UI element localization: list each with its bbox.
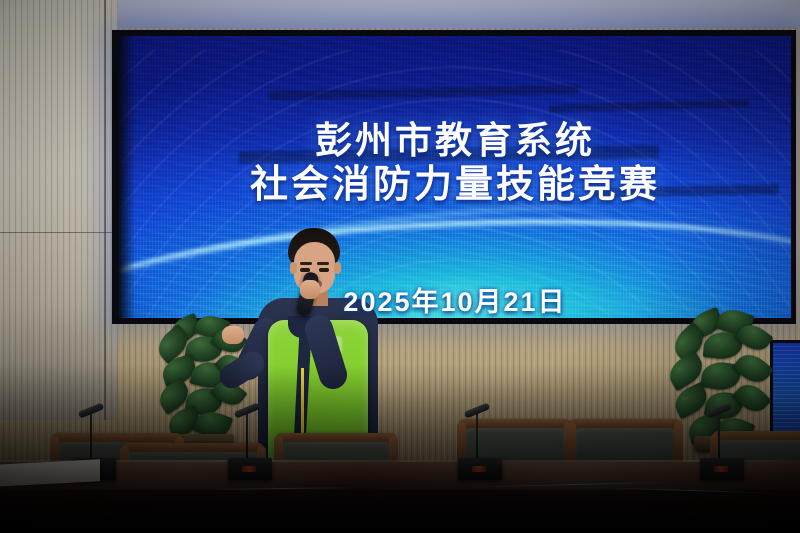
side-wall-slat-texture bbox=[0, 0, 118, 420]
panel-seam-horizontal bbox=[0, 232, 118, 233]
presenter-brow-left bbox=[300, 262, 312, 265]
presenter-eye-right bbox=[319, 268, 329, 272]
screen-title-line-1: 彭州市教育系统 bbox=[119, 120, 791, 163]
led-video-wall: 彭州市教育系统 社会消防力量技能竞赛 2025年10月21日 bbox=[112, 30, 796, 324]
screen-date: 2025年10月21日 bbox=[119, 280, 791, 318]
screen-title-block: 彭州市教育系统 社会消防力量技能竞赛 bbox=[119, 120, 791, 207]
presenter-left-hand bbox=[222, 326, 244, 344]
panel-seam-vertical bbox=[104, 0, 106, 420]
led-screen-surface: 彭州市教育系统 社会消防力量技能竞赛 2025年10月21日 bbox=[119, 36, 791, 318]
presenter-brow-right bbox=[317, 262, 329, 265]
screen-title-line-2: 社会消防力量技能竞赛 bbox=[119, 163, 791, 207]
conference-room-photo: 彭州市教育系统 社会消防力量技能竞赛 2025年10月21日 bbox=[0, 0, 800, 533]
presenter-ear-right bbox=[334, 262, 341, 274]
side-wall-panel bbox=[0, 0, 118, 420]
lower-room-shadow bbox=[0, 363, 800, 533]
presenter-ear-left bbox=[290, 262, 297, 274]
